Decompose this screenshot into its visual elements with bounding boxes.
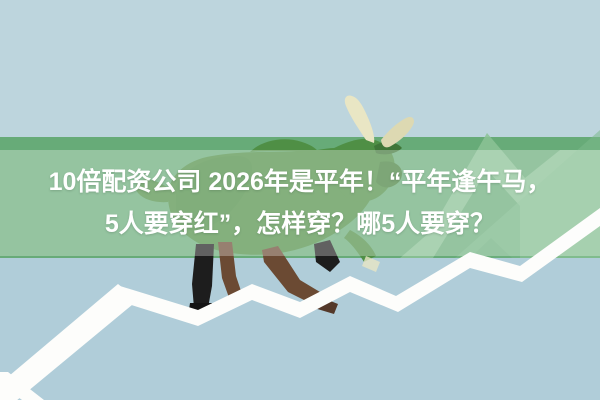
caption-line-1: 10倍配资公司 2026年是平年！“平年逢午马， [49,161,552,203]
banner-image: 10倍配资公司 2026年是平年！“平年逢午马， 5人要穿红”，怎样穿？哪5人要… [0,0,600,400]
caption-line-2: 5人要穿红”，怎样穿？哪5人要穿？ [105,203,495,245]
caption-overlay-band: 10倍配资公司 2026年是平年！“平年逢午马， 5人要穿红”，怎样穿？哪5人要… [0,150,600,256]
